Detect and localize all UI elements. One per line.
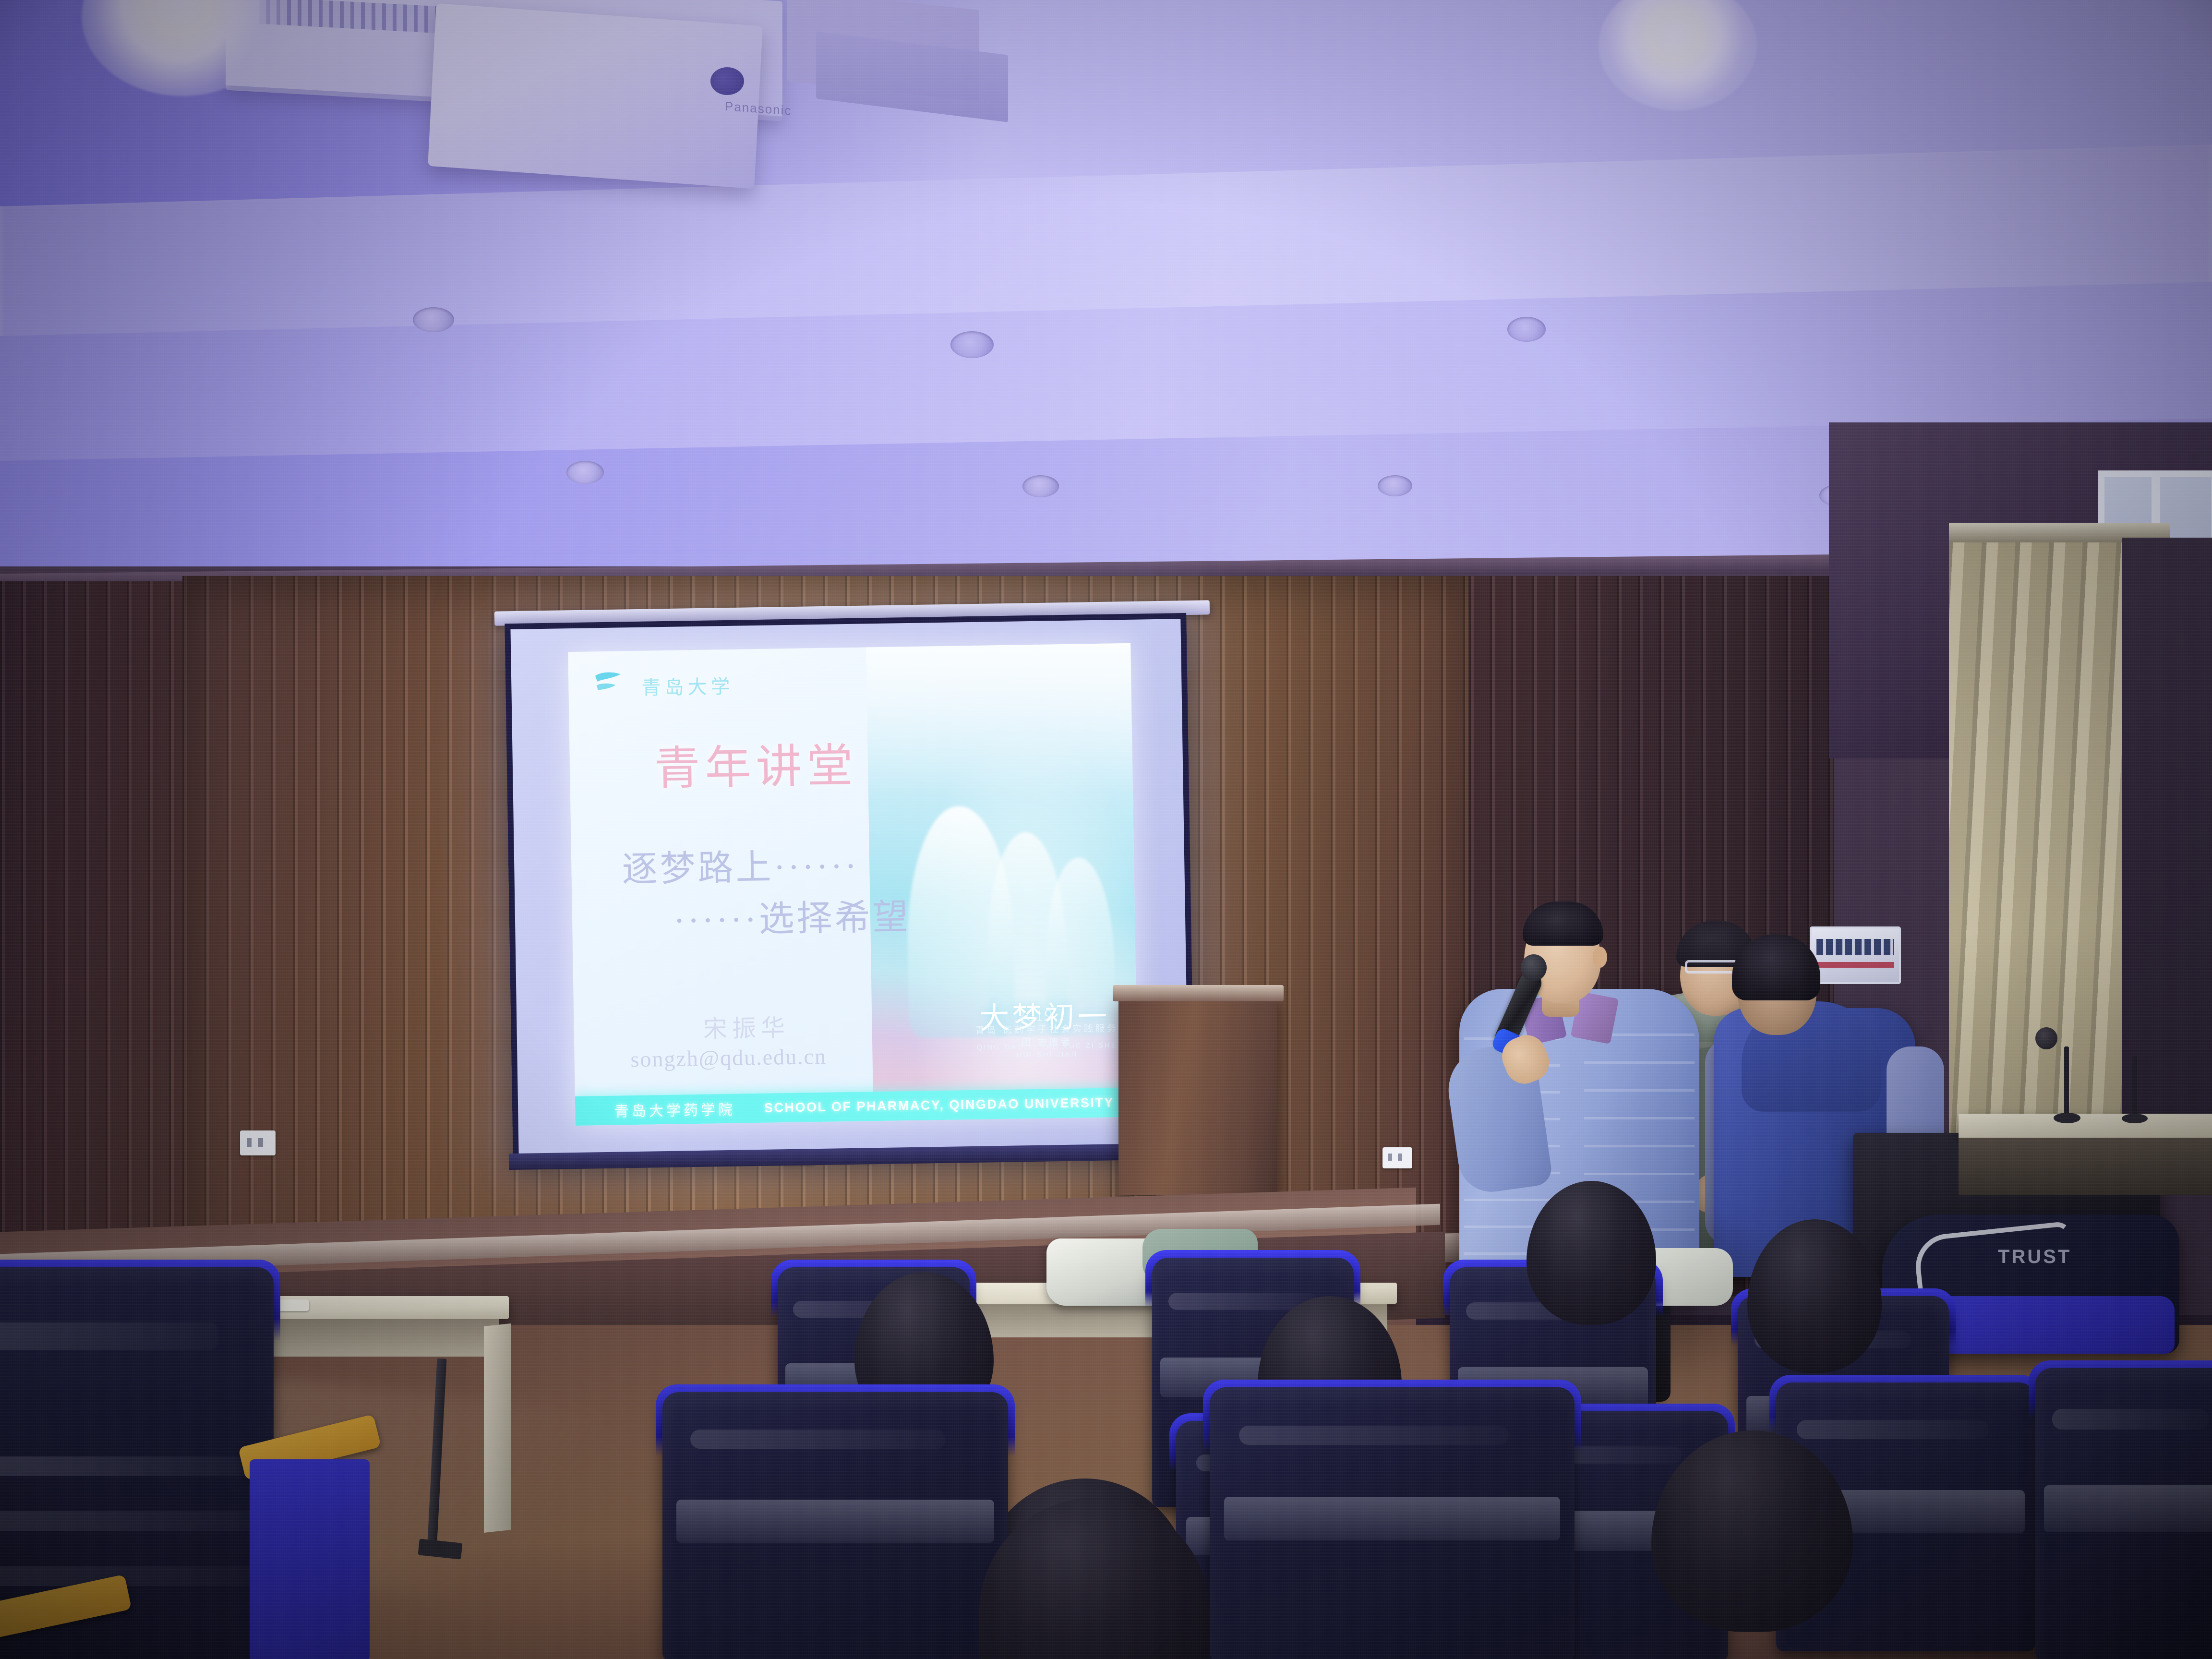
seat[interactable] — [662, 1392, 1008, 1659]
ceiling-projector — [428, 3, 763, 189]
wood-panel-left — [0, 581, 192, 1286]
slide-subtitle-line-2: ······选择希望 — [673, 888, 911, 943]
downlight-icon — [413, 307, 454, 332]
seat-highlight — [1239, 1426, 1509, 1445]
seat-side-panel — [250, 1459, 370, 1659]
microphone-stand[interactable] — [2064, 1046, 2069, 1118]
projector-lens-icon — [710, 67, 744, 95]
university-logo-icon — [593, 666, 625, 698]
electrical-panel-breakers — [1816, 939, 1894, 955]
seat-grey-band — [1224, 1497, 1560, 1540]
projection-screen[interactable]: 2019· 大梦初一 青岛 医药学子社会实践服务团 志愿者 QING DAO Y… — [505, 613, 1194, 1161]
seat-back — [2035, 1368, 2212, 1659]
downlight-icon — [1022, 475, 1059, 497]
downlight-icon — [950, 331, 994, 358]
seat-crease — [0, 1511, 261, 1531]
seat-back — [662, 1392, 1008, 1659]
electrical-panel — [1810, 926, 1901, 984]
seat-grey-band — [676, 1500, 994, 1543]
seat[interactable] — [2035, 1368, 2212, 1659]
side-desk-front — [1959, 1138, 2212, 1195]
microphone-stand-base — [2054, 1113, 2080, 1123]
slide-footer-en: SCHOOL OF PHARMACY, QINGDAO UNIVERSITY — [764, 1095, 1114, 1115]
microphone-capsule-icon — [1521, 954, 1547, 981]
microphone-head-icon — [2035, 1027, 2057, 1049]
downlight-icon — [566, 461, 604, 484]
slide-footer-bar: 青岛大学药学院 SCHOOL OF PHARMACY, QINGDAO UNIV… — [575, 1087, 1138, 1126]
slide-title: 青年讲堂 — [653, 728, 858, 798]
slide-speaker-name: 宋振华 — [703, 1009, 790, 1045]
side-desk-top — [1959, 1114, 2212, 1138]
power-outlet-icon[interactable] — [1382, 1147, 1412, 1168]
whiteboard-eraser[interactable] — [277, 1299, 309, 1311]
bag-brand-label: TRUST — [1998, 1246, 2071, 1268]
lectern-top — [1113, 985, 1284, 1001]
electrical-panel-label-strip — [1816, 962, 1894, 968]
microphone-stand-base — [2122, 1114, 2148, 1123]
power-outlet-icon[interactable] — [240, 1130, 276, 1155]
slide-footer-cn: 青岛大学药学院 — [614, 1098, 736, 1121]
seat-grey-band — [2044, 1485, 2212, 1532]
seat-back — [1210, 1387, 1575, 1659]
presentation-slide: 2019· 大梦初一 青岛 医药学子社会实践服务团 志愿者 QING DAO Y… — [568, 643, 1138, 1126]
speaker-ear — [1593, 947, 1607, 968]
slide-subtitle-line-1: 逐梦路上······ — [622, 837, 859, 892]
downlight-icon — [1507, 317, 1546, 342]
desk-side-panel — [484, 1323, 511, 1533]
seat-crease — [0, 1456, 261, 1476]
seat-highlight — [690, 1430, 946, 1448]
seat-highlight — [1797, 1420, 1989, 1439]
seat-highlight — [2052, 1409, 2209, 1430]
university-logo-text: 青岛大学 — [641, 671, 734, 700]
lectern[interactable] — [1118, 994, 1277, 1195]
auditorium-photo: Panasonic — [0, 0, 2212, 1659]
slide-poster-image: 2019· 大梦初一 青岛 医药学子社会实践服务团 志愿者 QING DAO Y… — [866, 643, 1138, 1093]
poster-subtitle-pinyin: QING DAO YI YAO XUE ZI SHE HUI SHI JIAN — [970, 1041, 1124, 1060]
seat-crease — [0, 1566, 261, 1586]
microphone-stand[interactable] — [2132, 1056, 2137, 1118]
seat-highlight — [0, 1322, 218, 1350]
downlight-icon — [1378, 475, 1412, 496]
seat[interactable] — [1210, 1387, 1575, 1659]
slide-speaker-email: songzh@qdu.edu.cn — [630, 1044, 827, 1072]
screen-surface: 2019· 大梦初一 青岛 医药学子社会实践服务团 志愿者 QING DAO Y… — [510, 619, 1189, 1155]
